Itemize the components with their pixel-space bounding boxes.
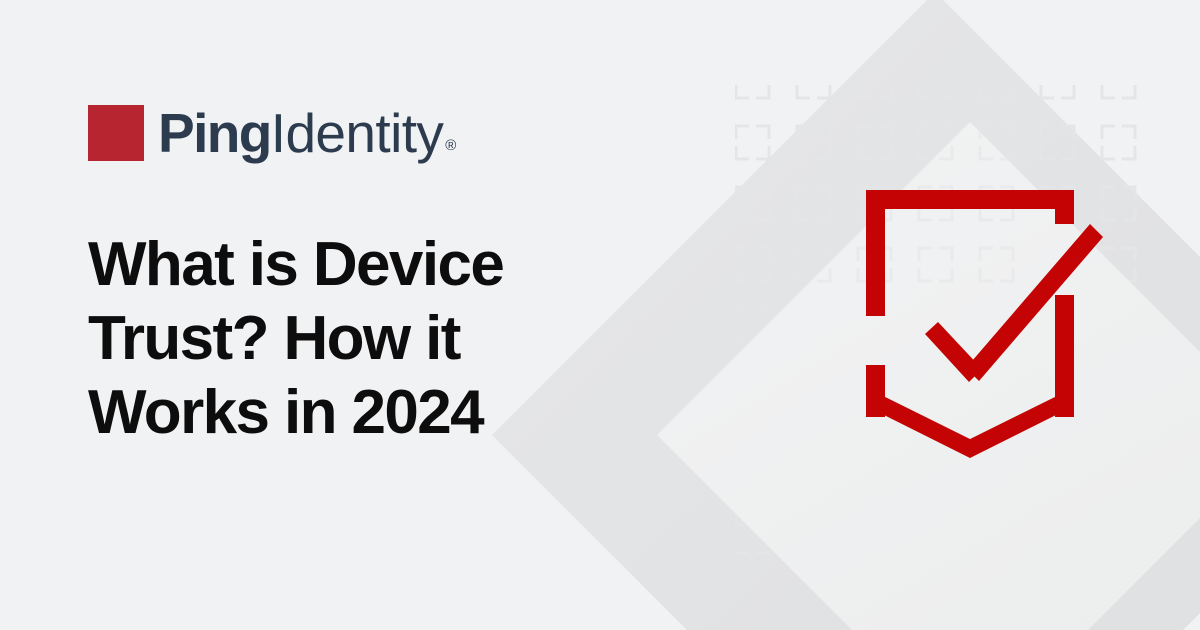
headline-line-1: What is Device — [88, 228, 608, 302]
logo-text-identity: Identity — [271, 106, 444, 161]
page-title: What is Device Trust? How it Works in 20… — [88, 228, 608, 450]
headline-line-3: Works in 2024 — [88, 376, 608, 450]
logo-text-ping: Ping — [158, 106, 271, 161]
headline-line-2: Trust? How it — [88, 302, 608, 376]
logo-wordmark: Ping Identity ® — [158, 106, 456, 161]
logo-square-mark — [88, 105, 144, 161]
og-banner-card: Ping Identity ® What is Device Trust? Ho… — [0, 0, 1200, 630]
registered-trademark-icon: ® — [445, 138, 456, 153]
ping-identity-logo[interactable]: Ping Identity ® — [88, 104, 456, 162]
